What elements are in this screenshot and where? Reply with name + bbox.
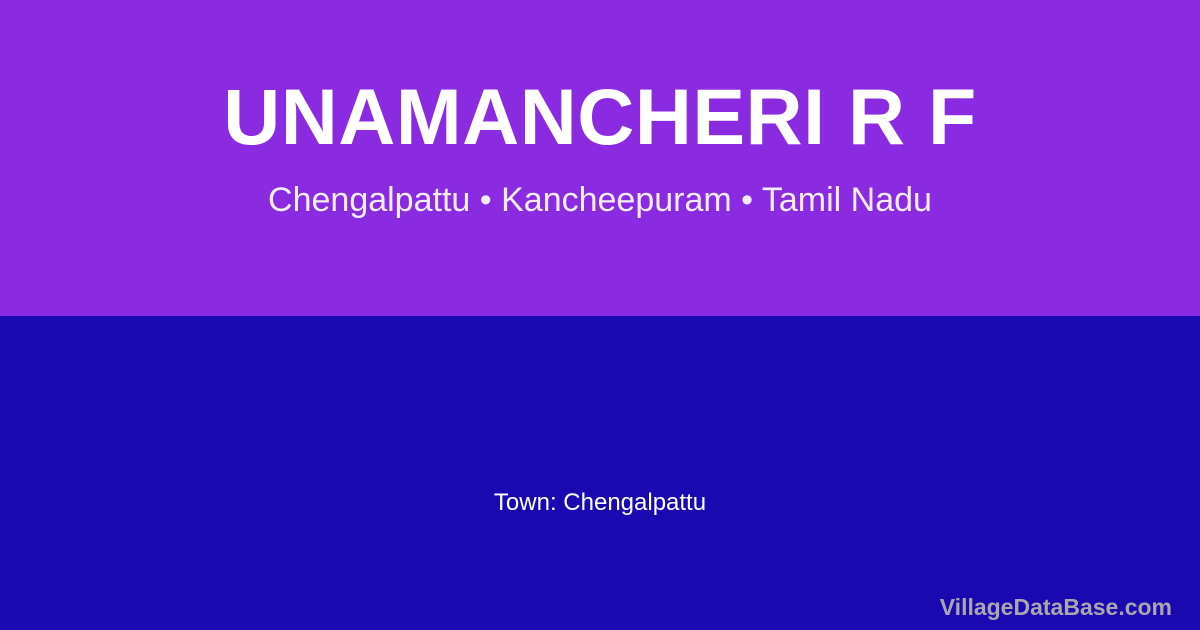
detail-panel: Town: Chengalpattu VillageDataBase.com	[0, 316, 1200, 630]
town-detail: Town: Chengalpattu	[0, 488, 1200, 518]
page-title: UNAMANCHERI R F	[0, 77, 1200, 157]
location-breadcrumb: Chengalpattu • Kancheepuram • Tamil Nadu	[0, 180, 1200, 220]
hero-banner: UNAMANCHERI R F Chengalpattu • Kancheepu…	[0, 0, 1200, 316]
site-watermark: VillageDataBase.com	[940, 593, 1172, 621]
village-info-card: UNAMANCHERI R F Chengalpattu • Kancheepu…	[0, 0, 1200, 630]
